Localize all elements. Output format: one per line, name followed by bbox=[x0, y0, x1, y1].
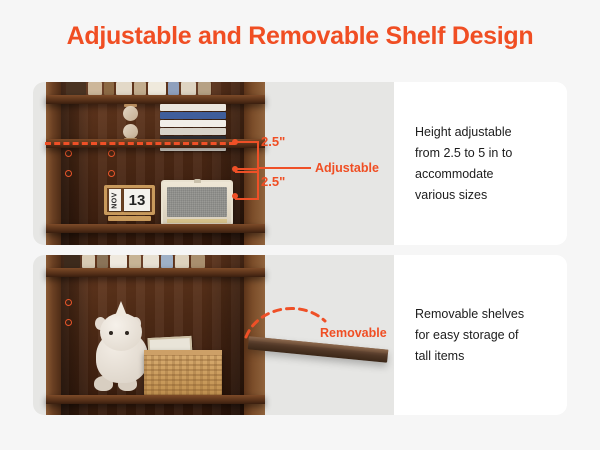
peg-holes-left bbox=[65, 82, 73, 245]
bookcase-body-2 bbox=[60, 255, 245, 415]
wicker-basket-prop bbox=[144, 350, 222, 396]
adjustable-callout-label: Adjustable bbox=[315, 161, 379, 175]
bookcase-top-row bbox=[60, 82, 245, 95]
bookcase-right-side bbox=[244, 82, 265, 245]
bookcase-removable-photo: Removable bbox=[33, 255, 394, 415]
shelf-board-bottom bbox=[46, 224, 265, 233]
feature-card-adjustable: NOV 13 bbox=[33, 82, 567, 245]
bookcase-left-side bbox=[46, 82, 61, 245]
adjustable-description: Height adjustable from 2.5 to 5 in to ac… bbox=[415, 122, 537, 206]
shelf-board-top bbox=[46, 95, 265, 104]
removable-description: Removable shelves for easy storage of ta… bbox=[415, 304, 537, 367]
callout-leader-line bbox=[257, 167, 311, 169]
calendar-month: NOV bbox=[109, 189, 121, 211]
bookcase-adjustable-photo: NOV 13 bbox=[33, 82, 394, 245]
hourglass-prop bbox=[123, 106, 138, 139]
shelf-board-bottom-2 bbox=[46, 395, 265, 404]
flip-calendar-prop: NOV 13 bbox=[104, 185, 155, 221]
product-feature-page: Adjustable and Removable Shelf Design bbox=[0, 0, 600, 450]
removable-callout-label: Removable bbox=[320, 326, 387, 340]
shelf-board-top-2 bbox=[46, 268, 265, 277]
page-title: Adjustable and Removable Shelf Design bbox=[0, 22, 600, 51]
removable-text-panel: Removable shelves for easy storage of ta… bbox=[394, 255, 567, 415]
peg-holes-left-2 bbox=[65, 255, 73, 415]
bookcase-right-side-2 bbox=[244, 255, 265, 415]
adjustable-text-panel: Height adjustable from 2.5 to 5 in to ac… bbox=[394, 82, 567, 245]
removed-shelf-plank bbox=[248, 336, 389, 362]
speaker-prop bbox=[161, 180, 233, 226]
bookcase-body: NOV 13 bbox=[60, 82, 245, 245]
bookcase-left-side-2 bbox=[46, 255, 61, 415]
feature-card-removable: Removable Removable shelves for easy sto… bbox=[33, 255, 567, 415]
calendar-day: 13 bbox=[124, 189, 150, 211]
plush-unicorn-prop bbox=[92, 307, 152, 391]
shelf-board-middle bbox=[46, 139, 265, 148]
bookcase-top-row-2 bbox=[60, 255, 245, 268]
